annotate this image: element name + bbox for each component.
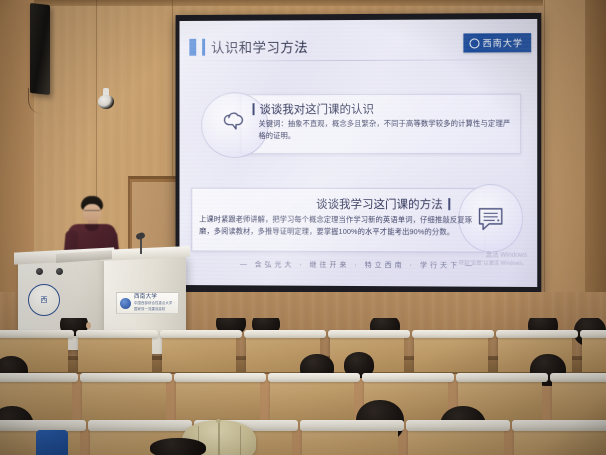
cap-button — [216, 419, 221, 423]
title-accent-bar-primary — [189, 38, 196, 55]
lecture-hall-photo: 认识和学习方法 西南大学 — [0, 0, 606, 455]
slide-block-1-heading: 谈谈我对这门课的认识 — [259, 101, 374, 117]
seat-armrest — [88, 420, 192, 431]
seat-back — [414, 332, 488, 372]
slide-block-2-body: 上课时紧跟老师讲解，把学习每个概念定理当作学习新的英语单词，仔细推敲反复琢磨，多… — [199, 214, 476, 239]
projection-screen-frame: 认识和学习方法 西南大学 — [176, 13, 542, 295]
seat-armrest — [268, 373, 360, 382]
title-accent-bar-secondary — [202, 38, 205, 55]
presentation-slide: 认识和学习方法 西南大学 — [179, 19, 537, 287]
audience-seating — [0, 318, 606, 455]
seat-armrest — [512, 420, 606, 431]
slide-block-1: 谈谈我对这门课的认识 关键词：抽象不直观，概念多且繁杂，不同于高等数学较多的计算… — [201, 92, 519, 154]
podium-seal-icon — [120, 298, 131, 309]
wall-seam — [544, 0, 545, 300]
seat-armrest — [406, 420, 510, 431]
camera-dome — [98, 95, 114, 109]
seat-back — [582, 332, 606, 372]
seat-armrest — [174, 373, 266, 382]
dome-camera-icon — [98, 88, 114, 110]
microphone-stand — [140, 238, 142, 254]
slide-block-2: 谈谈我学习这门课的方法 上课时紧跟老师讲解，把学习每个概念定理当作学习新的英语单… — [191, 186, 521, 253]
podium-knob[interactable] — [56, 268, 63, 275]
seat-armrest — [456, 373, 548, 382]
seat-back — [176, 376, 260, 422]
seat-armrest — [550, 373, 606, 382]
university-seal-icon — [469, 38, 479, 48]
podium-plate-line-2: 中国西部综合性重点大学 · 国家双一流建设高校 — [134, 300, 178, 312]
heading-tick — [253, 103, 255, 115]
slide-block-2-heading-row: 谈谈我学习这门课的方法 — [316, 196, 450, 212]
watermark-line-1: 激活 Windows — [459, 250, 527, 259]
seat-armrest — [244, 330, 326, 338]
wall-speaker-panel — [30, 3, 50, 95]
podium-nameplate: 西南大学 中国西部综合性重点大学 · 国家双一流建设高校 — [116, 292, 179, 314]
seat-back — [270, 376, 354, 422]
cap-seam — [218, 421, 220, 455]
slide-title: 认识和学习方法 — [211, 36, 308, 56]
right-doorway[interactable] — [586, 0, 606, 300]
seat-armrest — [300, 420, 404, 431]
ceiling-edge — [0, 0, 606, 6]
slide-block-2-heading: 谈谈我学习这门课的方法 — [316, 196, 443, 212]
seat-armrest — [0, 330, 74, 338]
seat-back — [162, 332, 236, 372]
podium-knob[interactable] — [36, 268, 43, 275]
audience-bag — [36, 430, 68, 455]
slide-block-1-heading-row: 谈谈我对这门课的认识 — [253, 101, 374, 117]
university-badge: 西南大学 — [463, 33, 531, 52]
seat-armrest — [496, 330, 578, 338]
heading-tick — [448, 198, 450, 210]
seat-armrest — [412, 330, 494, 338]
seat-armrest — [580, 330, 606, 338]
title-divider — [187, 59, 529, 61]
seat-armrest — [80, 373, 172, 382]
cap-seam — [240, 426, 241, 455]
seat-armrest — [0, 373, 78, 382]
podium-plate-text: 西南大学 中国西部综合性重点大学 · 国家双一流建设高校 — [134, 294, 178, 312]
seat-back — [78, 332, 152, 372]
seat-armrest — [160, 330, 242, 338]
podium-left-seal: 西 — [28, 284, 60, 316]
audience-ear — [86, 322, 91, 329]
slide-block-1-body: 关键词：抽象不直观，概念多且繁杂，不同于高等数学较多的计算性与定理严格的证明。 — [258, 118, 510, 142]
presenter-glasses-icon — [84, 210, 100, 215]
seat-armrest — [76, 330, 158, 338]
watermark-line-2: 转到"设置"以激活 Windows。 — [459, 259, 527, 268]
seat-armrest — [328, 330, 410, 338]
seat-armrest — [362, 373, 454, 382]
university-badge-label: 西南大学 — [483, 36, 523, 49]
audience-head — [150, 438, 206, 455]
seat-back — [552, 376, 606, 422]
projection-screen[interactable]: 认识和学习方法 西南大学 — [179, 19, 537, 287]
slide-title-row: 认识和学习方法 — [189, 36, 308, 56]
windows-activation-watermark: 激活 Windows 转到"设置"以激活 Windows。 — [459, 250, 527, 268]
seat-back — [82, 376, 166, 422]
